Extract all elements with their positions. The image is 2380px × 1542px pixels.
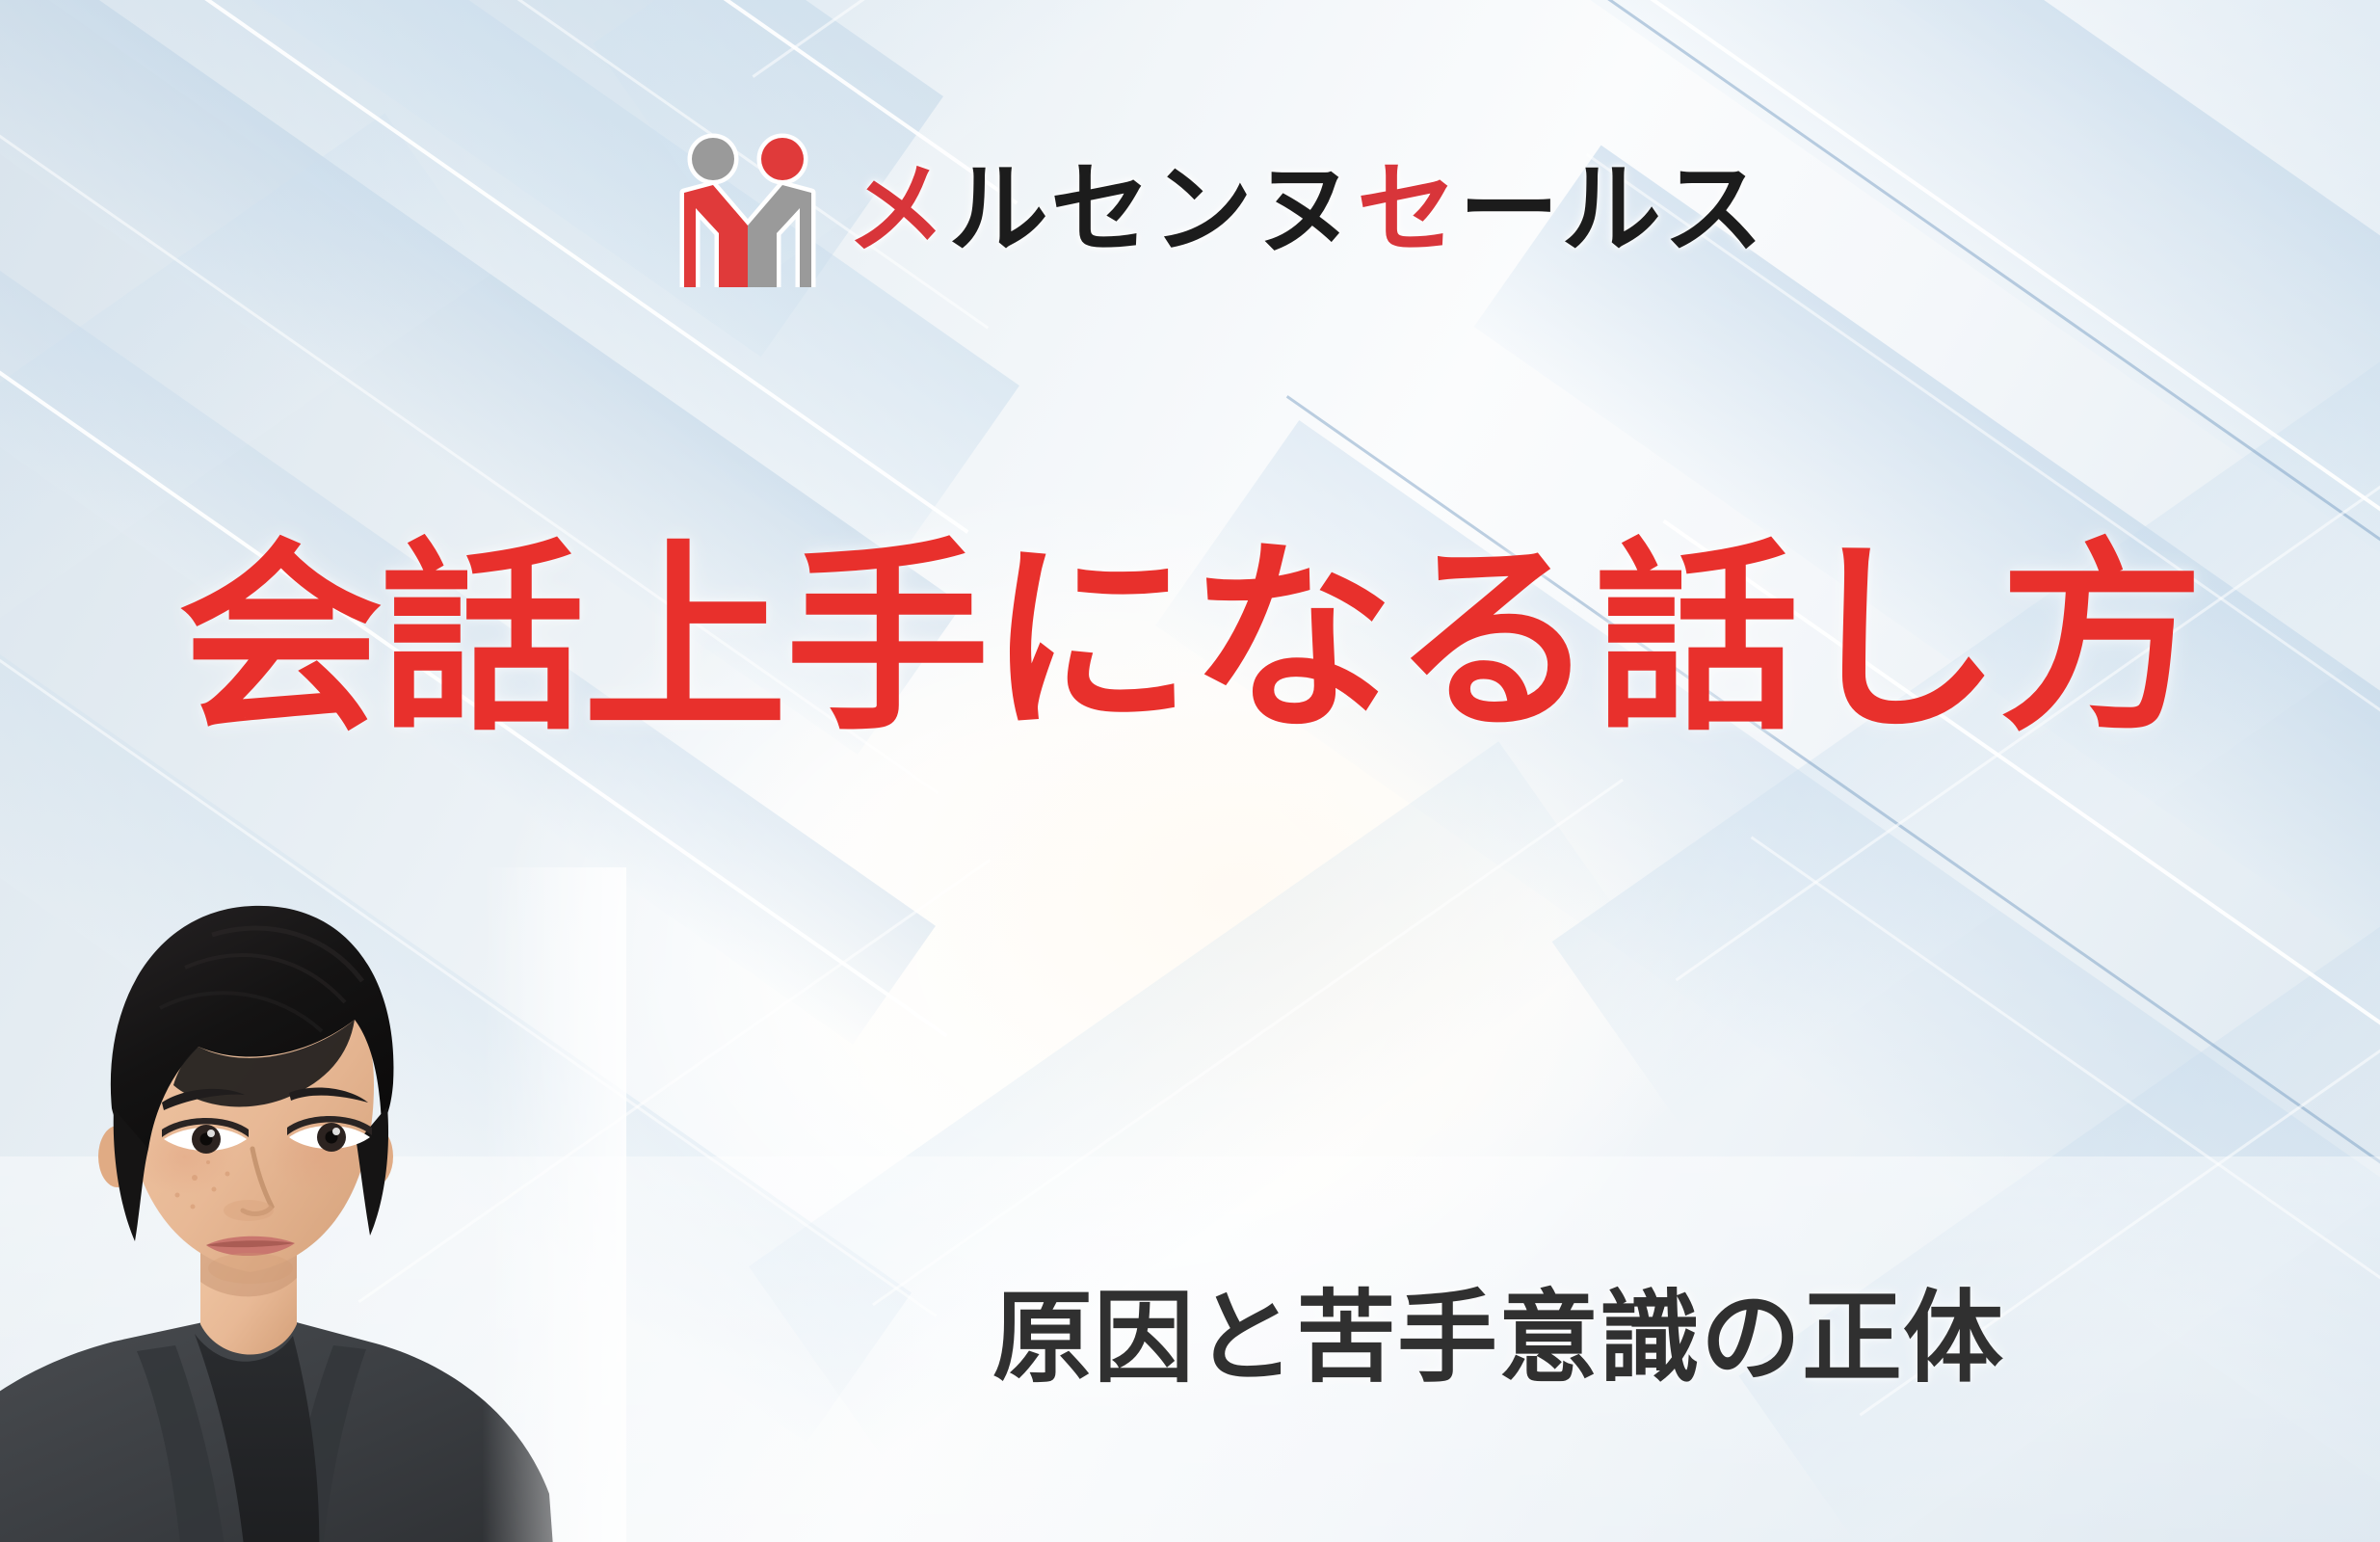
page-subtitle: 原因と苦手意識の正体 <box>617 1284 2380 1394</box>
logo-text-part-4: ールス <box>1459 154 1765 266</box>
thumbnail-canvas: メルセンヌセールス 会話上手になる話し方 <box>0 0 2380 1542</box>
logo-text-part-3: セ <box>1357 154 1459 266</box>
brand-logo-text: メルセンヌセールス <box>846 160 1765 260</box>
logo-head-red <box>761 138 804 180</box>
page-title: 会話上手になる話し方 <box>0 525 2380 754</box>
mersenne-m-people-logo-icon <box>674 133 821 287</box>
logo-head-gray <box>692 138 734 180</box>
logo-text-part-2: ルセンヌ <box>948 154 1357 266</box>
logo-text-part-1: メ <box>846 154 948 266</box>
brand-logo[interactable]: メルセンヌセールス <box>674 133 1765 287</box>
